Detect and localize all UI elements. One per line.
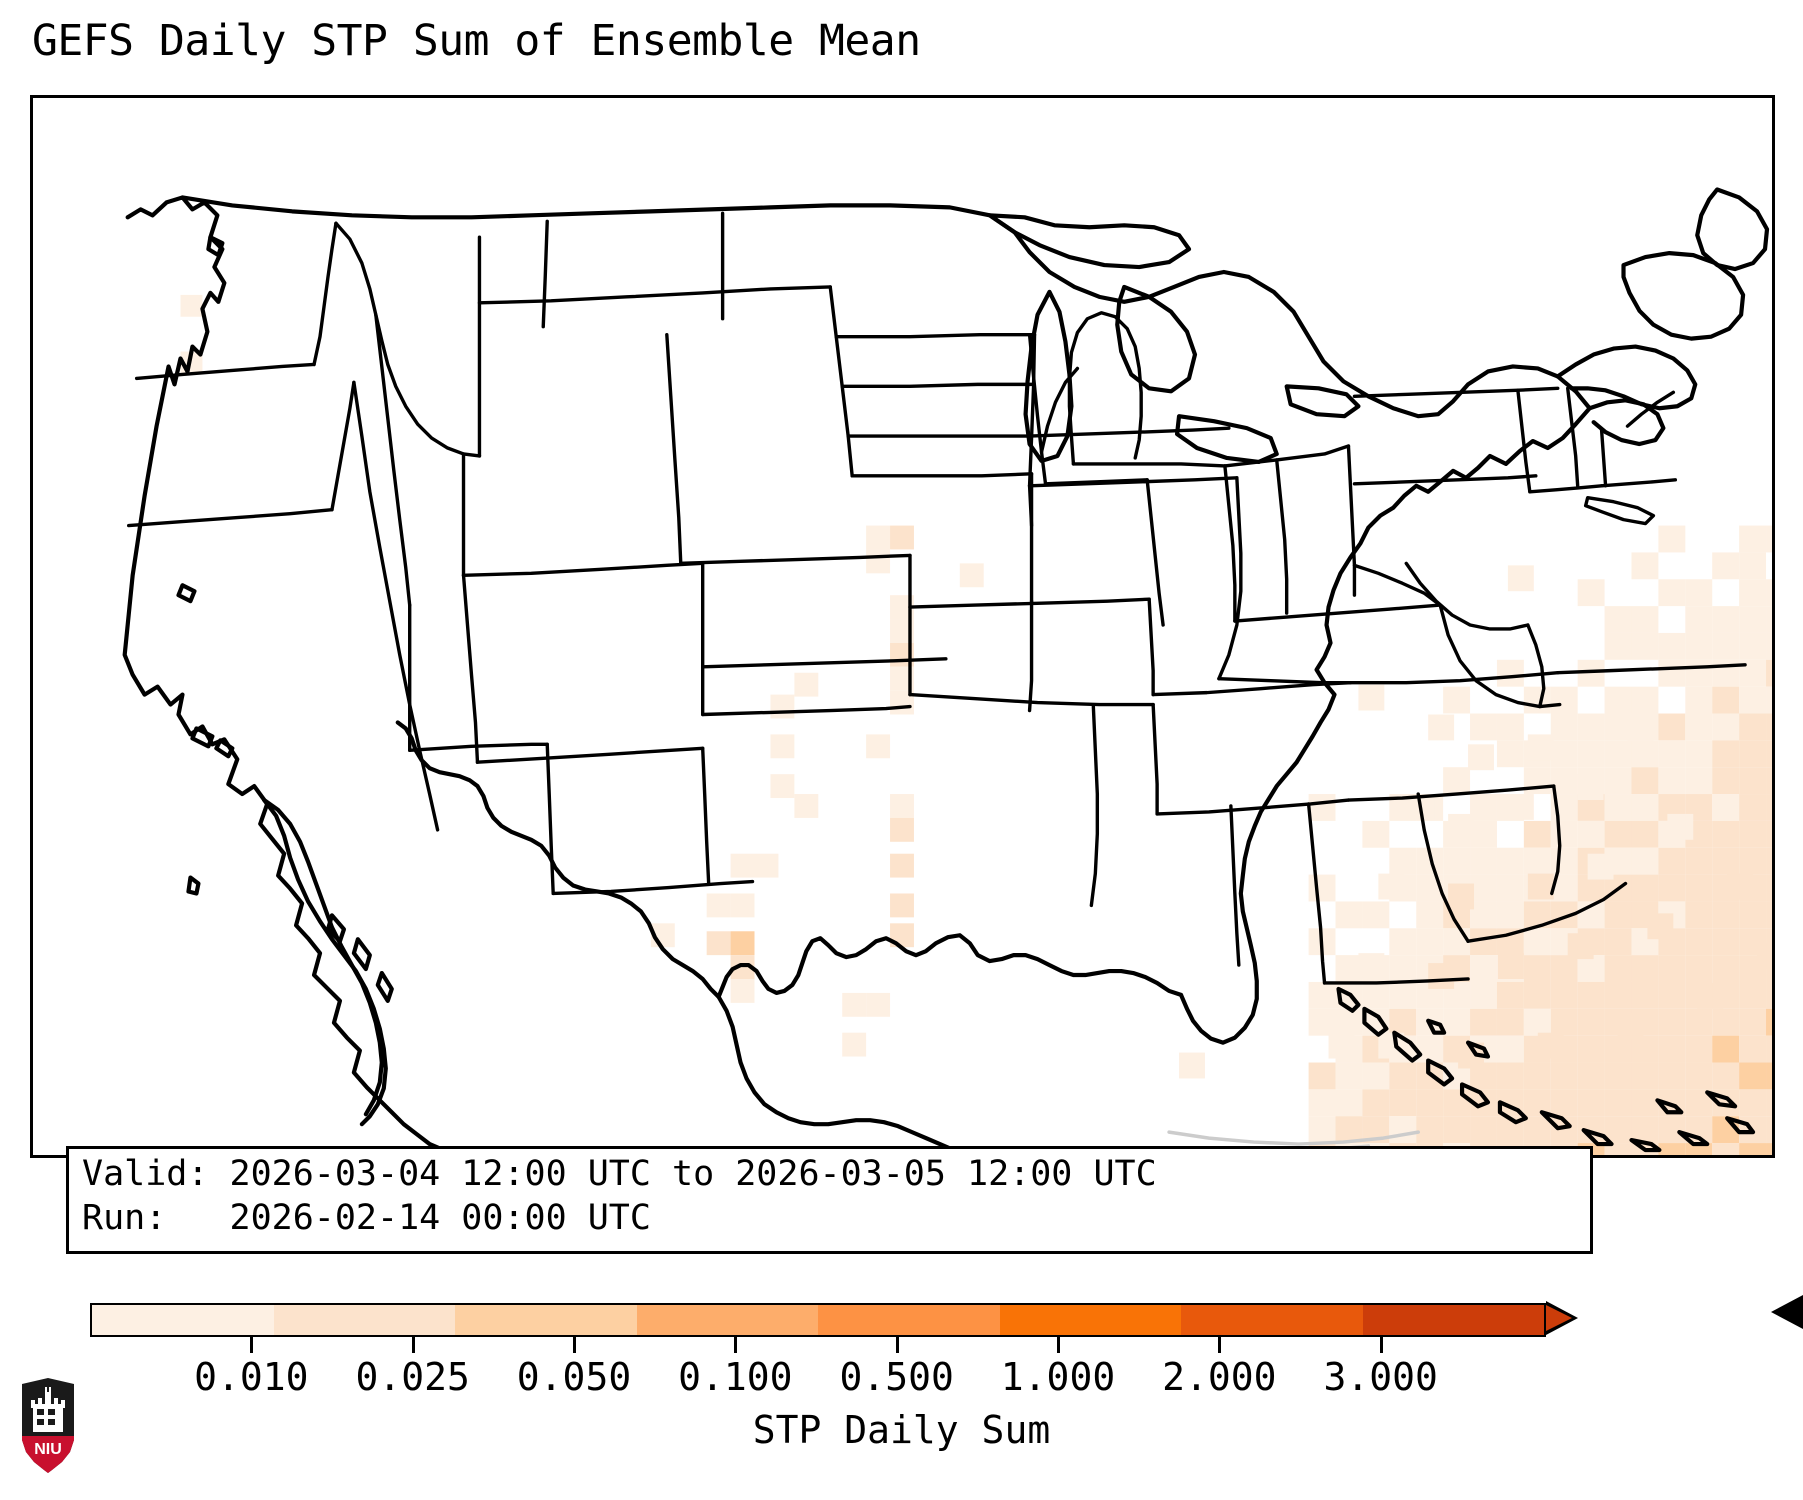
stp-cell <box>1329 1033 1355 1059</box>
stp-cell <box>1739 1063 1766 1090</box>
stp-cell <box>1362 821 1389 848</box>
colorbar-axis-label: STP Daily Sum <box>0 1408 1803 1452</box>
stp-cell <box>1443 848 1470 875</box>
stp-cell <box>1497 1036 1524 1063</box>
stp-cell <box>707 931 731 955</box>
colorbar-tick-2 <box>573 1337 576 1353</box>
stp-cell <box>1627 715 1653 741</box>
stp-cell <box>1631 687 1658 714</box>
stp-cell <box>1712 1063 1739 1090</box>
stp-cell <box>770 695 794 719</box>
stp-cell <box>1631 552 1658 579</box>
stp-cell <box>1605 794 1632 821</box>
stp-cell <box>1309 1116 1336 1143</box>
stp-cell <box>1470 955 1497 982</box>
stp-cell <box>1685 955 1712 982</box>
stp-cell <box>1685 660 1712 687</box>
stp-cell <box>1739 579 1766 606</box>
stp-cell <box>1578 821 1605 848</box>
stp-cell <box>1766 660 1772 687</box>
stp-cell <box>1416 1116 1443 1143</box>
stp-cell <box>1766 821 1772 848</box>
colorbar-tick-0 <box>250 1337 253 1353</box>
stp-cell <box>1578 774 1604 800</box>
stp-cell <box>1508 565 1534 591</box>
stp-cell <box>1551 1063 1578 1090</box>
colorbar-tick-7 <box>1380 1337 1383 1353</box>
stp-cell <box>1712 1036 1739 1063</box>
colorbar-tick-label-6: 2.000 <box>1162 1355 1276 1399</box>
stp-cell <box>1551 982 1578 1009</box>
stp-cell <box>1524 1009 1551 1036</box>
stp-cell <box>1179 1053 1205 1079</box>
stp-cell <box>1739 1089 1766 1116</box>
stp-cell <box>1389 982 1416 1009</box>
colorbar-band-1 <box>274 1305 456 1335</box>
stp-cell <box>1766 1009 1772 1036</box>
stp-cell <box>1497 714 1524 741</box>
stp-cell <box>1528 734 1554 760</box>
stp-cell <box>1712 633 1739 660</box>
stp-cell <box>1766 767 1772 794</box>
stp-cell <box>1336 955 1363 982</box>
stp-cell <box>1658 955 1685 982</box>
stp-cell <box>1766 875 1772 902</box>
stp-cell <box>1766 848 1772 875</box>
stp-cell <box>1588 854 1614 880</box>
stp-cell <box>1578 1036 1605 1063</box>
stp-cell <box>1658 714 1685 741</box>
stp-cell <box>1766 982 1772 1009</box>
stp-cell <box>1524 687 1551 714</box>
stp-cell <box>1497 848 1524 875</box>
stp-cell <box>1470 821 1497 848</box>
stp-cell <box>1362 1063 1389 1090</box>
stp-cell <box>1739 606 1766 633</box>
stp-cell <box>1497 901 1524 928</box>
stp-cell <box>866 993 890 1017</box>
valid-time-text: Valid: 2026-03-04 12:00 UTC to 2026-03-0… <box>82 1154 1157 1194</box>
stp-cell <box>890 526 914 550</box>
stp-cell <box>1497 1009 1524 1036</box>
colorbar-tick-label-3: 0.100 <box>678 1355 792 1399</box>
stp-cell <box>1658 1009 1685 1036</box>
stp-cell <box>1416 901 1443 928</box>
stp-cell <box>866 526 890 550</box>
stp-cell <box>1443 1089 1470 1116</box>
stp-cell <box>1497 660 1524 687</box>
stp-cell <box>1631 740 1658 767</box>
stp-cell <box>1766 1116 1772 1143</box>
stp-cell <box>1443 928 1470 955</box>
stp-cell <box>1658 1116 1685 1143</box>
stp-cell <box>1605 714 1632 741</box>
stp-cell <box>1712 794 1739 821</box>
stp-cell <box>1309 875 1336 902</box>
stp-cell <box>1470 848 1497 875</box>
colorbar-tick-label-4: 0.500 <box>839 1355 953 1399</box>
stp-cell <box>1605 740 1632 767</box>
stp-cell <box>1631 955 1658 982</box>
stp-cell <box>1712 848 1739 875</box>
stp-cell <box>1568 933 1594 959</box>
stp-cell <box>1766 740 1772 767</box>
stp-cell <box>731 893 755 917</box>
stp-cell <box>1389 955 1416 982</box>
stp-cell <box>1524 982 1551 1009</box>
stp-cell <box>1685 1063 1712 1090</box>
stp-cell <box>1685 633 1712 660</box>
stp-cell <box>1739 740 1766 767</box>
colorbar-gradient <box>90 1303 1546 1337</box>
stp-cell <box>866 734 890 758</box>
stp-cell <box>1605 821 1632 848</box>
stp-cell <box>1739 901 1766 928</box>
stp-cell <box>1766 687 1772 714</box>
stp-cell <box>1498 953 1524 979</box>
stp-cell <box>1578 1063 1605 1090</box>
stp-cell <box>1605 1036 1632 1063</box>
stp-cell <box>1739 552 1766 579</box>
stp-cell <box>1524 1063 1551 1090</box>
stp-cell <box>1658 982 1685 1009</box>
stp-cell <box>1389 1063 1416 1090</box>
stp-cell <box>1497 875 1524 902</box>
stp-cell <box>1658 875 1685 902</box>
stp-cell <box>1605 955 1632 982</box>
stp-cell <box>1428 715 1454 741</box>
stp-cell <box>1658 579 1685 606</box>
stp-cell <box>1470 794 1497 821</box>
stp-cell <box>1578 1009 1605 1036</box>
stp-cell <box>1497 982 1524 1009</box>
stp-cell <box>1712 1143 1739 1155</box>
stp-cell <box>1739 1009 1766 1036</box>
stp-cell <box>1470 875 1497 902</box>
stp-cell <box>1524 928 1551 955</box>
stp-cell <box>1766 1063 1772 1090</box>
stp-cell <box>1309 982 1336 1009</box>
niu-logo: NIU <box>18 1378 78 1474</box>
stp-cell <box>1685 901 1712 928</box>
stp-cell <box>1470 982 1497 1009</box>
colorbar-tick-3 <box>734 1337 737 1353</box>
stp-cell <box>1309 1009 1336 1036</box>
stp-cell <box>1739 767 1766 794</box>
stp-cell <box>1470 1009 1497 1036</box>
stp-cell <box>1631 875 1658 902</box>
stp-cell <box>1658 767 1685 794</box>
stp-cell <box>842 1033 866 1057</box>
stp-cell <box>1497 740 1524 767</box>
stp-cell <box>1605 606 1632 633</box>
stp-cell <box>1551 740 1578 767</box>
stp-cell <box>1739 1143 1766 1155</box>
stp-cell <box>1658 1143 1685 1155</box>
stp-cell <box>1685 1009 1712 1036</box>
colorbar-tick-label-0: 0.010 <box>194 1355 308 1399</box>
stp-cell <box>731 979 755 1003</box>
stp-cell <box>1697 983 1723 1009</box>
run-time-text: Run: 2026-02-14 00:00 UTC <box>82 1198 651 1238</box>
colorbar-band-6 <box>1181 1305 1363 1335</box>
colorbar-tick-1 <box>412 1337 415 1353</box>
stp-cell <box>731 931 755 955</box>
stp-cell <box>1605 1089 1632 1116</box>
stp-cell <box>707 893 731 917</box>
stp-cell <box>1443 1009 1470 1036</box>
stp-cell <box>1358 953 1384 979</box>
stp-cell <box>1766 633 1772 660</box>
stp-cell <box>1378 874 1404 900</box>
stp-cell <box>1712 606 1739 633</box>
stp-cell <box>1712 740 1739 767</box>
stp-cell <box>1631 982 1658 1009</box>
stp-cell <box>1766 1036 1772 1063</box>
stp-cell <box>1578 579 1605 606</box>
stp-cell <box>1470 1116 1497 1143</box>
logo-text: NIU <box>34 1441 62 1458</box>
stp-cell <box>1618 1013 1644 1039</box>
stp-cell <box>1739 1036 1766 1063</box>
stp-cell <box>1685 579 1712 606</box>
stp-cell <box>1528 874 1554 900</box>
stp-cell <box>1551 848 1578 875</box>
stp-cell <box>842 993 866 1017</box>
stp-cell <box>1605 982 1632 1009</box>
stp-cell <box>1362 901 1389 928</box>
stp-cell <box>1578 1089 1605 1116</box>
stp-cell <box>1578 740 1605 767</box>
stp-cell <box>1766 714 1772 741</box>
stp-cell <box>1605 928 1632 955</box>
stp-cell <box>1336 1089 1363 1116</box>
stp-cell <box>1524 955 1551 982</box>
colorbar-tick-label-7: 3.000 <box>1323 1355 1437 1399</box>
colorbar-tick-label-2: 0.050 <box>517 1355 631 1399</box>
stp-cell <box>1739 633 1766 660</box>
stp-cell <box>1658 740 1685 767</box>
stp-cell <box>1336 1063 1363 1090</box>
colorbar-extend-min-fill <box>66 1305 92 1331</box>
stp-cell <box>1647 913 1673 939</box>
stp-cell <box>1416 928 1443 955</box>
stp-cell <box>1658 848 1685 875</box>
stp-cell <box>1766 579 1772 606</box>
stp-cell <box>1766 526 1772 553</box>
colorbar-band-2 <box>455 1305 637 1335</box>
stp-cell <box>1309 794 1336 821</box>
stp-cell <box>794 673 818 697</box>
stp-cell <box>1712 687 1739 714</box>
stp-cell <box>1739 848 1766 875</box>
stp-cell <box>1658 1063 1685 1090</box>
map-svg <box>33 98 1772 1155</box>
stp-cell <box>1443 1116 1470 1143</box>
stp-cell <box>1766 901 1772 928</box>
stp-cell <box>1524 1116 1551 1143</box>
stp-cell <box>1605 1063 1632 1090</box>
stp-cell <box>1362 1089 1389 1116</box>
stp-cell <box>1578 955 1605 982</box>
stp-cell <box>1631 1089 1658 1116</box>
stp-cell <box>1766 1143 1772 1155</box>
stp-cell <box>1766 1089 1772 1116</box>
colorbar-tick-5 <box>1057 1337 1060 1353</box>
stp-cell <box>1631 606 1658 633</box>
stp-cell <box>890 893 914 917</box>
page-title: GEFS Daily STP Sum of Ensemble Mean <box>32 16 921 66</box>
stp-cell <box>1658 633 1685 660</box>
colorbar-band-3 <box>637 1305 819 1335</box>
stp-cell <box>890 794 914 818</box>
stp-cell <box>1605 633 1632 660</box>
colorbar-tick-label-5: 1.000 <box>1001 1355 1115 1399</box>
stp-cell <box>1631 794 1658 821</box>
stp-cell <box>1631 821 1658 848</box>
stp-cell <box>1658 1036 1685 1063</box>
colorbar-tick-label-1: 0.025 <box>355 1355 469 1399</box>
stp-cell <box>1667 814 1693 840</box>
map-plot-area <box>30 95 1775 1158</box>
stp-cell <box>1757 943 1772 969</box>
stp-cell <box>1685 687 1712 714</box>
stp-cell <box>1631 848 1658 875</box>
stp-cell <box>1712 901 1739 928</box>
stp-cell <box>1336 1009 1363 1036</box>
stp-cell <box>1739 794 1766 821</box>
stp-cell <box>1470 714 1497 741</box>
stp-cell <box>1727 874 1753 900</box>
stp-cell <box>794 794 818 818</box>
stp-atlantic-field <box>1309 526 1772 1155</box>
stp-cell <box>1631 767 1658 794</box>
stp-cell <box>866 549 890 573</box>
stp-cell <box>770 774 794 798</box>
stp-cell <box>1389 928 1416 955</box>
stp-cell <box>1524 821 1551 848</box>
stp-cell <box>1712 821 1739 848</box>
stp-cell <box>1309 1089 1336 1116</box>
stp-cell <box>1685 848 1712 875</box>
stp-cell <box>1766 606 1772 633</box>
stp-cell <box>1739 821 1766 848</box>
stp-cell <box>1685 928 1712 955</box>
stp-cell <box>1578 714 1605 741</box>
colorbar-extend-max-fill <box>1546 1305 1572 1331</box>
stp-cell <box>1685 714 1712 741</box>
stp-cell <box>1631 1036 1658 1063</box>
colorbar-band-5 <box>1000 1305 1182 1335</box>
stp-cell <box>1336 901 1363 928</box>
colorbar-tick-6 <box>1218 1337 1221 1353</box>
stp-cell <box>1497 1063 1524 1090</box>
stp-cell <box>1538 1033 1564 1059</box>
stp-cell <box>1685 1036 1712 1063</box>
stp-cell <box>1508 794 1534 820</box>
colorbar-band-7 <box>1363 1305 1545 1335</box>
stp-cell <box>1685 767 1712 794</box>
stp-cell <box>1739 687 1766 714</box>
stp-cell <box>1739 714 1766 741</box>
stp-cell <box>1712 1009 1739 1036</box>
stp-cell <box>1658 526 1685 553</box>
stp-cell <box>1739 526 1766 553</box>
stp-cell <box>770 734 794 758</box>
stp-cell <box>1389 1089 1416 1116</box>
stp-cell <box>1712 552 1739 579</box>
stp-cell <box>960 563 984 587</box>
stp-cell <box>1389 848 1416 875</box>
stp-cell <box>1551 1089 1578 1116</box>
stp-cell <box>1766 794 1772 821</box>
stp-cell <box>1524 848 1551 875</box>
stp-cell <box>1448 884 1474 910</box>
stp-cell <box>1578 982 1605 1009</box>
stp-cell <box>1448 814 1474 840</box>
stp-cell <box>1658 660 1685 687</box>
stp-cell <box>1358 685 1384 711</box>
stp-cell <box>1551 821 1578 848</box>
stp-cell <box>1428 963 1454 989</box>
forecast-info-box: Valid: 2026-03-04 12:00 UTC to 2026-03-0… <box>66 1146 1593 1254</box>
stp-cell <box>1551 1009 1578 1036</box>
stp-cell <box>1470 901 1497 928</box>
stp-cell <box>1605 687 1632 714</box>
colorbar-container: 0.0100.0250.0500.1000.5001.0002.0003.000… <box>0 1295 1803 1500</box>
stp-cell <box>1362 982 1389 1009</box>
stp-cell <box>1605 901 1632 928</box>
stp-cell <box>1389 1116 1416 1143</box>
stp-cell <box>1443 687 1470 714</box>
stp-cell <box>755 854 779 878</box>
stp-cell <box>1739 982 1766 1009</box>
stp-cell <box>890 818 914 842</box>
colorbar-band-4 <box>818 1305 1000 1335</box>
stp-cell <box>1631 1063 1658 1090</box>
stp-cell <box>1712 955 1739 982</box>
stp-cell <box>1416 1036 1443 1063</box>
stp-cell <box>1712 714 1739 741</box>
stp-cell <box>1443 767 1470 794</box>
stp-cell <box>1416 1089 1443 1116</box>
stp-cell <box>1685 740 1712 767</box>
stp-cell <box>1685 875 1712 902</box>
stp-cell <box>1551 955 1578 982</box>
stp-cell <box>1309 1063 1336 1090</box>
stp-cell <box>1468 744 1494 770</box>
colorbar-band-0 <box>92 1305 274 1335</box>
stp-cell <box>1685 606 1712 633</box>
stp-cell <box>1605 767 1632 794</box>
stp-cell <box>890 854 914 878</box>
stp-cell <box>731 854 755 878</box>
stp-cell <box>180 295 202 317</box>
colorbar-tick-4 <box>896 1337 899 1353</box>
stp-cell <box>1712 767 1739 794</box>
stp-cell <box>1712 928 1739 955</box>
stp-cell <box>1631 633 1658 660</box>
stp-cell <box>1551 687 1578 714</box>
stp-cell <box>1551 714 1578 741</box>
